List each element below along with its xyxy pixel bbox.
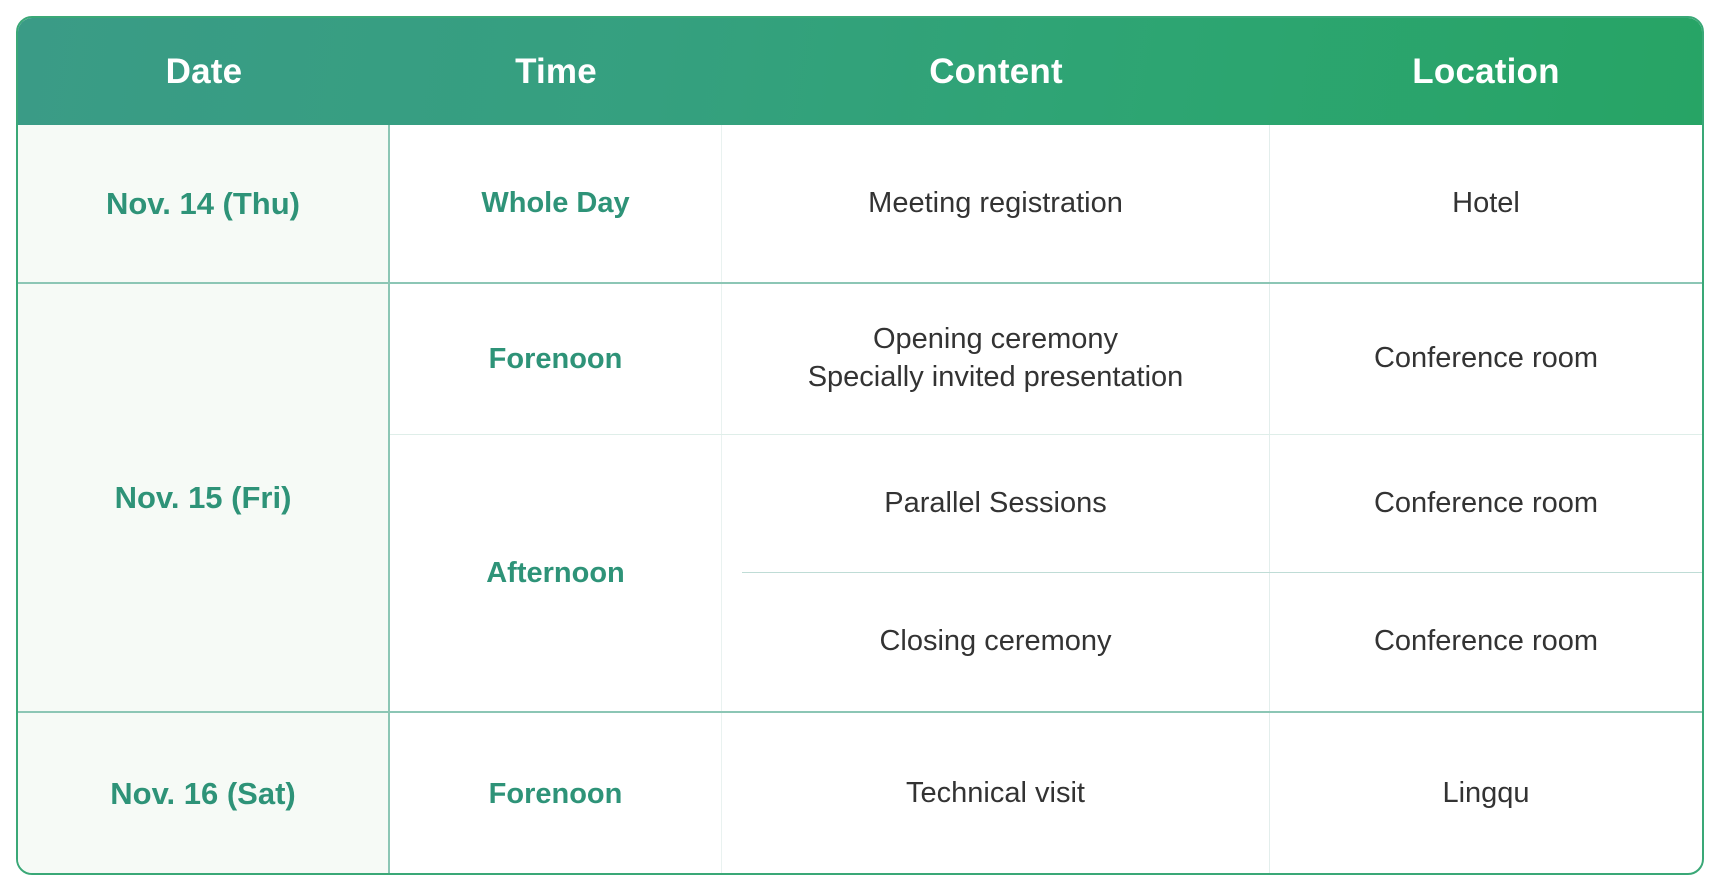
day-group: Nov. 15 (Fri) Forenoon Opening ceremony … [18,282,1702,711]
time-block: Forenoon Technical visit Lingqu [390,713,1702,875]
location-cell: Conference room [1270,573,1702,711]
content-line: Opening ceremony [808,321,1184,359]
day-time-blocks: Forenoon Opening ceremony Specially invi… [390,284,1702,711]
table-body: Nov. 14 (Thu) Whole Day Meeting registra… [18,125,1702,873]
content-line: Specially invited presentation [808,359,1184,397]
content-location-stack: Parallel Sessions Conference room Closin… [722,435,1702,711]
content-location-stack: Technical visit Lingqu [722,713,1702,875]
location-cell: Conference room [1270,435,1702,573]
content-line: Meeting registration [868,185,1123,223]
time-block: Afternoon Parallel Sessions Conference r… [390,434,1702,711]
time-cell: Forenoon [390,284,722,434]
content-cell: Parallel Sessions [722,435,1270,573]
time-block: Whole Day Meeting registration Hotel [390,125,1702,282]
time-cell: Afternoon [390,435,722,711]
location-cell: Lingqu [1270,713,1702,875]
day-group: Nov. 16 (Sat) Forenoon Technical visit L… [18,711,1702,875]
content-line: Parallel Sessions [884,485,1106,523]
date-cell: Nov. 15 (Fri) [18,284,390,711]
table-row: Closing ceremony Conference room [722,573,1702,711]
content-cell: Technical visit [722,713,1270,875]
content-cell: Meeting registration [722,125,1270,282]
column-header-location[interactable]: Location [1270,18,1702,125]
column-header-content[interactable]: Content [722,18,1270,125]
content-line: Technical visit [906,775,1085,813]
schedule-table: Date Time Content Location Nov. 14 (Thu)… [16,16,1704,875]
column-header-date[interactable]: Date [18,18,390,125]
content-location-stack: Opening ceremony Specially invited prese… [722,284,1702,434]
table-header-row: Date Time Content Location [18,18,1702,125]
date-cell: Nov. 16 (Sat) [18,713,390,875]
content-location-stack: Meeting registration Hotel [722,125,1702,282]
table-row: Opening ceremony Specially invited prese… [722,284,1702,434]
table-row: Parallel Sessions Conference room [722,435,1702,573]
time-block: Forenoon Opening ceremony Specially invi… [390,284,1702,434]
content-cell: Closing ceremony [722,573,1270,711]
table-row: Technical visit Lingqu [722,713,1702,875]
location-cell: Hotel [1270,125,1702,282]
content-line: Closing ceremony [879,623,1111,661]
time-cell: Forenoon [390,713,722,875]
column-header-time[interactable]: Time [390,18,722,125]
day-group: Nov. 14 (Thu) Whole Day Meeting registra… [18,125,1702,282]
day-time-blocks: Whole Day Meeting registration Hotel [390,125,1702,282]
location-cell: Conference room [1270,284,1702,434]
content-cell: Opening ceremony Specially invited prese… [722,284,1270,434]
day-time-blocks: Forenoon Technical visit Lingqu [390,713,1702,875]
table-row: Meeting registration Hotel [722,125,1702,282]
date-cell: Nov. 14 (Thu) [18,125,390,282]
time-cell: Whole Day [390,125,722,282]
